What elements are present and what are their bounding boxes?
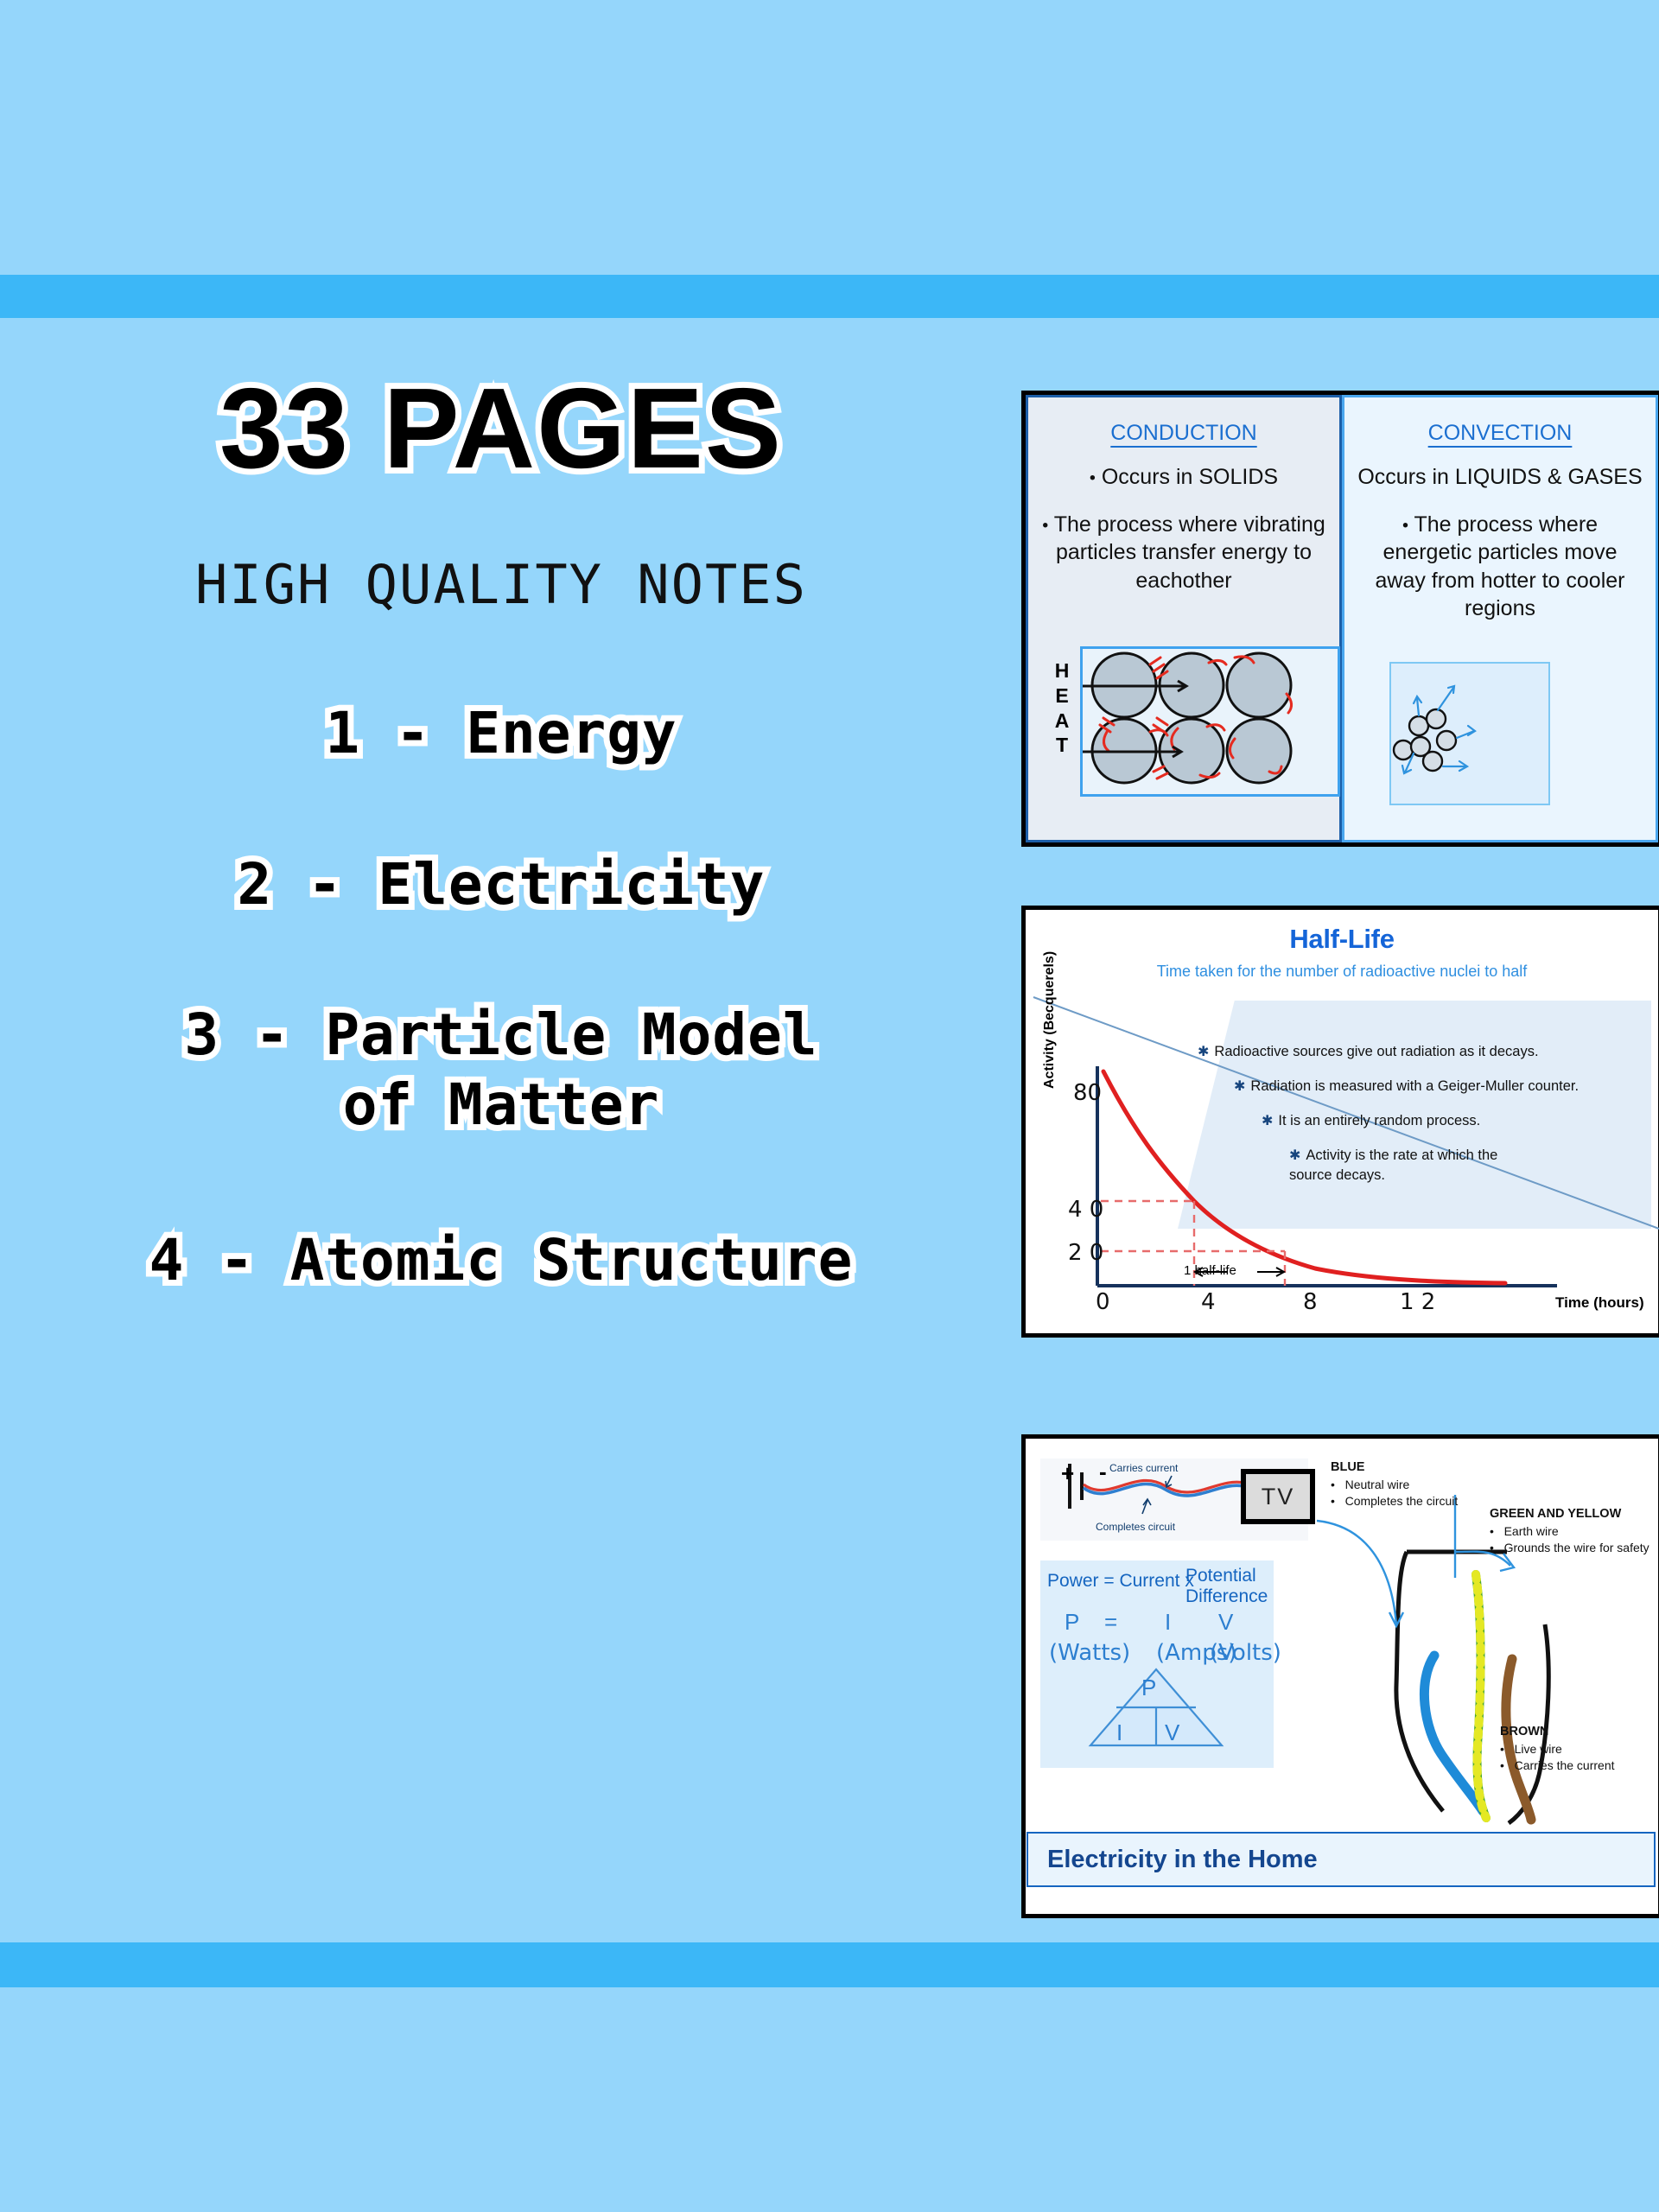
bullet-dot-icon: • (1331, 1478, 1335, 1491)
y-tick-20: 2 0 (1068, 1240, 1103, 1266)
bullet-dot-icon: • (1500, 1742, 1504, 1756)
bullet-dot-icon: • (1042, 516, 1048, 535)
x-tick-8: 8 (1303, 1289, 1318, 1315)
symbol-equals: = (1104, 1609, 1117, 1636)
triangle-symbol-p: P (1141, 1675, 1156, 1701)
triangle-symbol-i: I (1116, 1719, 1122, 1746)
symbol-voltage: V (1218, 1609, 1233, 1636)
topic-item-particle-model: 3 - Particle Model (0, 1001, 1002, 1071)
convection-title: CONVECTION (1344, 397, 1656, 446)
battery-negative-label: - (1099, 1459, 1107, 1485)
unit-volts: (Volts) (1210, 1640, 1281, 1666)
x-tick-0: 0 (1096, 1289, 1110, 1315)
promo-subheading: HIGH QUALITY NOTES (0, 553, 1002, 616)
tv-appliance-box: TV (1241, 1469, 1315, 1524)
conduction-svg (1083, 649, 1332, 789)
heat-transfer-card: CONDUCTION • Occurs in SOLIDS • The proc… (1021, 391, 1659, 847)
topic-item-electricity: 2 - Electricity (0, 850, 1002, 920)
convection-panel: CONVECTION Occurs in LIQUIDS & GASES • T… (1342, 395, 1658, 842)
wire-note-green-yellow: GREEN AND YELLOW • Earth wire • Grounds … (1490, 1505, 1649, 1557)
conduction-bullet-1: Occurs in SOLIDS (1102, 465, 1278, 489)
wire-label-brown: BROWN (1500, 1725, 1548, 1738)
conduction-bullets: • Occurs in SOLIDS • The process where v… (1028, 463, 1339, 594)
convection-bullet-2: The process where energetic particles mo… (1375, 512, 1624, 621)
y-tick-80: 80 (1073, 1080, 1102, 1106)
topic-item-energy: 1 - Energy (0, 699, 1002, 769)
electricity-title-bar: Electricity in the Home (1027, 1832, 1656, 1887)
circuit-note-carries-current: Carries current (1109, 1462, 1178, 1474)
bullet-dot-icon: • (1490, 1541, 1494, 1554)
bullet-dot-icon: • (1090, 468, 1096, 487)
half-life-decay-chart (1021, 906, 1659, 1338)
topic-item-particle-model-line2: of Matter (0, 1071, 1002, 1141)
topic-item-atomic-structure: 4 - Atomic Structure (0, 1226, 1002, 1296)
y-tick-40: 4 0 (1068, 1197, 1103, 1223)
page-title: 33 PAGES (0, 372, 1002, 486)
power-equation-potential-difference: Potential Difference (1185, 1566, 1268, 1607)
half-life-span-annotation: 1 half-life (1184, 1263, 1236, 1278)
chart-y-axis-label: Activity (Becquerels) (1042, 951, 1058, 1089)
symbol-current: I (1165, 1609, 1171, 1636)
wire-note-brown: BROWN • Live wire • Carries the current (1500, 1723, 1615, 1775)
conduction-panel: CONDUCTION • Occurs in SOLIDS • The proc… (1026, 395, 1342, 842)
unit-watts: (Watts) (1049, 1640, 1130, 1666)
triangle-symbol-v: V (1165, 1719, 1179, 1746)
promo-column: 33 PAGES HIGH QUALITY NOTES 1 - Energy 2… (0, 372, 1002, 1296)
convection-svg (1391, 664, 1545, 800)
wire-label-green-yellow: GREEN AND YELLOW (1490, 1507, 1621, 1521)
x-tick-4: 4 (1201, 1289, 1216, 1315)
bullet-dot-icon: • (1500, 1758, 1504, 1772)
battery-positive-label: + (1061, 1460, 1074, 1487)
top-accent-band (0, 275, 1659, 318)
chart-x-axis-label: Time (hours) (1555, 1294, 1644, 1312)
x-tick-12: 1 2 (1400, 1289, 1435, 1315)
bullet-dot-icon: • (1402, 516, 1408, 535)
bullet-dot-icon: • (1490, 1524, 1494, 1538)
wire-note-blue: BLUE • Neutral wire • Completes the circ… (1331, 1459, 1458, 1510)
conduction-particles-diagram (1080, 646, 1340, 797)
conduction-bullet-2: The process where vibrating particles tr… (1054, 512, 1325, 593)
convection-particles-diagram (1389, 662, 1550, 805)
electricity-card-title: Electricity in the Home (1047, 1846, 1318, 1874)
wire-label-blue: BLUE (1331, 1460, 1364, 1474)
convection-bullet-1: Occurs in LIQUIDS & GASES (1357, 465, 1642, 489)
heat-direction-label: HEAT (1047, 658, 1077, 797)
conduction-title: CONDUCTION (1028, 397, 1339, 446)
bottom-accent-band (0, 1942, 1659, 1987)
circuit-note-completes-circuit: Completes circuit (1096, 1521, 1175, 1533)
symbol-power: P (1065, 1609, 1079, 1636)
bullet-dot-icon: • (1331, 1494, 1335, 1508)
convection-bullets: Occurs in LIQUIDS & GASES • The process … (1344, 463, 1656, 623)
